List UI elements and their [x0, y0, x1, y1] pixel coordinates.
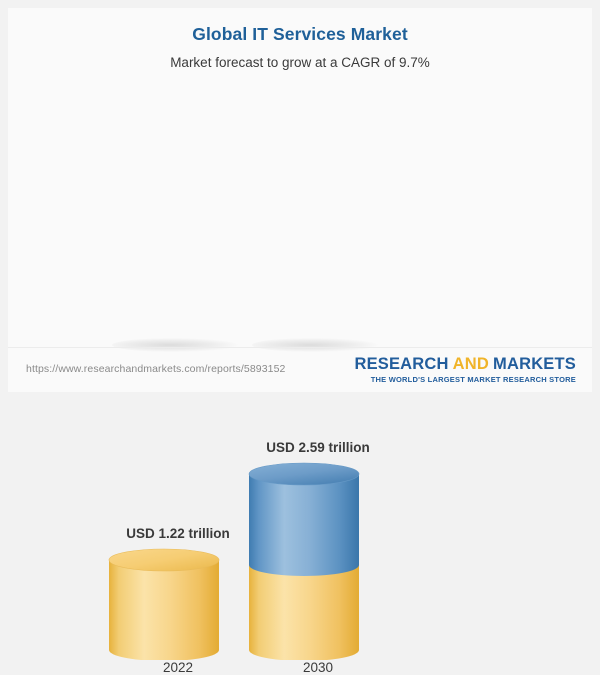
- brand-word-and: AND: [449, 355, 493, 373]
- footer: https://www.researchandmarkets.com/repor…: [8, 347, 592, 392]
- source-url-link[interactable]: https://www.researchandmarkets.com/repor…: [26, 363, 285, 375]
- brand-tagline: THE WORLD'S LARGEST MARKET RESEARCH STOR…: [354, 373, 576, 384]
- cylinder-bar-2022: [98, 348, 258, 660]
- chart-plot-area: USD 1.22 trillion: [8, 8, 592, 348]
- axis-label-2030: 2030: [238, 660, 398, 675]
- brand-name: RESEARCHANDMARKETS: [354, 355, 576, 373]
- axis-label-2022: 2022: [98, 660, 258, 675]
- cylinder-bar-2030: [238, 348, 398, 660]
- brand-logo[interactable]: RESEARCHANDMARKETS THE WORLD'S LARGEST M…: [354, 355, 576, 384]
- brand-word-research: RESEARCH: [354, 355, 448, 373]
- brand-word-markets: MARKETS: [493, 355, 576, 373]
- infographic-card: Global IT Services Market Market forecas…: [8, 8, 592, 392]
